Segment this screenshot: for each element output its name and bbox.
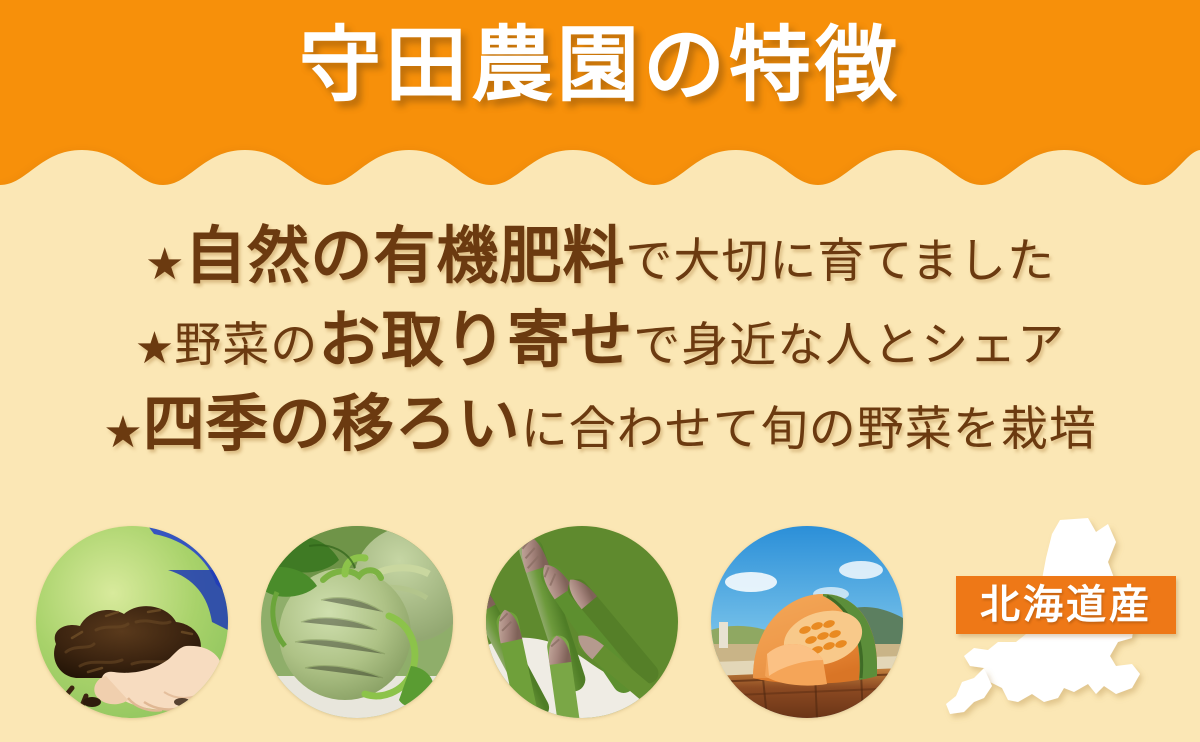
promo-banner: 守田農園の特徴 ★自然の有機肥料で大切に育てました ★野菜のお取り寄せで身近な人… <box>0 0 1200 742</box>
page-title: 守田農園の特徴 <box>0 22 1200 111</box>
compost-in-hands-image <box>36 526 228 718</box>
feature-3-rest: に合わせて旬の野菜を栽培 <box>521 404 1097 456</box>
feature-1-rest: で大切に育てました <box>625 236 1055 288</box>
banner-header: 守田農園の特徴 <box>0 0 1200 215</box>
feature-line-1: ★自然の有機肥料で大切に育てました <box>0 226 1200 288</box>
hokkaido-badge-group: 北海道産 <box>940 516 1200 742</box>
badge-label: 北海道産 <box>980 585 1152 625</box>
feature-2-rest: で身近な人とシェア <box>633 320 1065 372</box>
star-icon: ★ <box>145 240 184 289</box>
feature-1-emphasis: 自然の有機肥料 <box>184 223 625 291</box>
feature-3-emphasis: 四季の移ろい <box>143 391 521 459</box>
feature-2-lead: 野菜の <box>174 320 318 372</box>
photo-cut-melon <box>711 526 903 718</box>
fresh-asparagus-image <box>486 526 678 718</box>
wave-divider-icon <box>0 130 1200 215</box>
photo-fresh-asparagus <box>486 526 678 718</box>
status-badge: 北海道産 <box>956 576 1176 634</box>
cut-melon-image <box>711 526 903 718</box>
melons-on-vine-image <box>261 526 453 718</box>
photo-melons-on-vine <box>261 526 453 718</box>
star-icon: ★ <box>135 324 174 373</box>
photo-compost-in-hands <box>36 526 228 718</box>
feature-line-3: ★四季の移ろいに合わせて旬の野菜を栽培 <box>0 394 1200 456</box>
feature-2-emphasis: お取り寄せ <box>318 307 633 375</box>
feature-line-2: ★野菜のお取り寄せで身近な人とシェア <box>0 310 1200 372</box>
feature-list: ★自然の有機肥料で大切に育てました ★野菜のお取り寄せで身近な人とシェア ★四季… <box>0 226 1200 478</box>
star-icon: ★ <box>103 408 142 457</box>
